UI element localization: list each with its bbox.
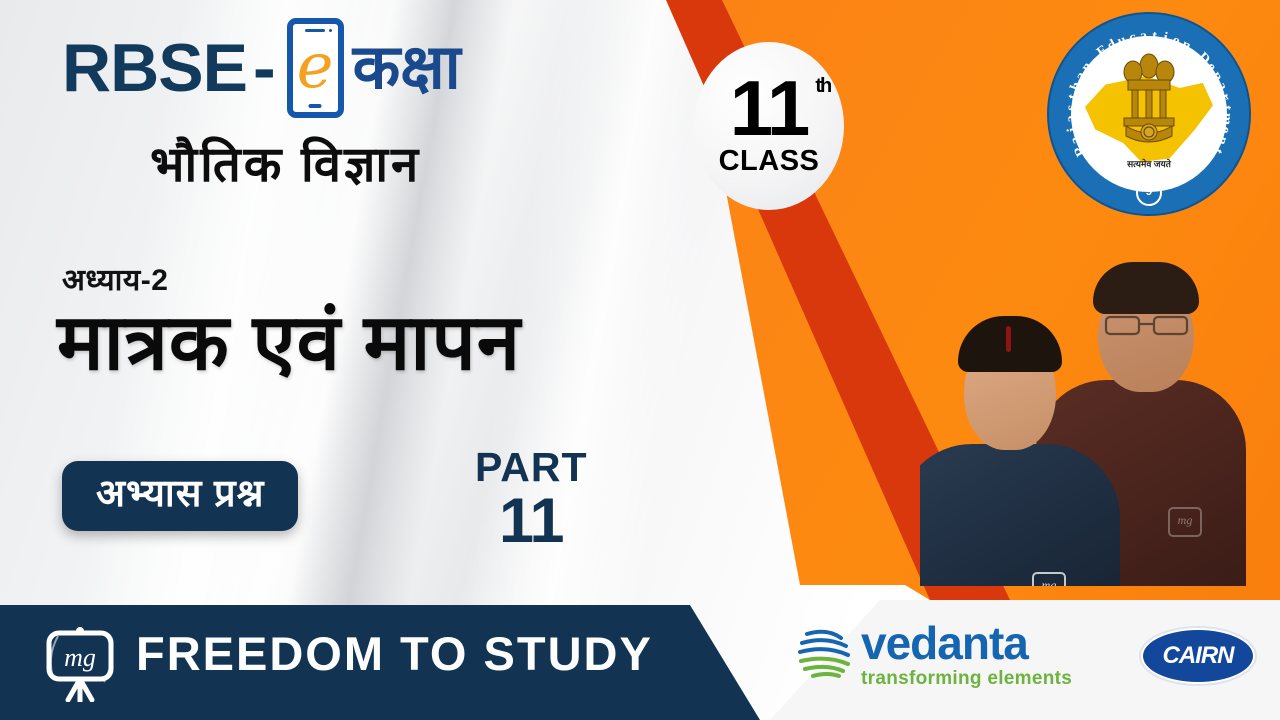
female-sindoor bbox=[1006, 326, 1011, 352]
vedanta-text-block: vedanta transforming elements bbox=[861, 620, 1072, 690]
class-number: 11 bbox=[730, 64, 808, 152]
vedanta-name: vedanta bbox=[861, 620, 1072, 666]
practice-questions-label: अभ्यास प्रश्न bbox=[96, 473, 264, 515]
subject-title: भौतिक विज्ञान bbox=[150, 130, 421, 196]
part-number: 11 bbox=[475, 490, 588, 553]
instructors-photo: mg mg bbox=[920, 250, 1265, 586]
vedanta-globe-icon bbox=[795, 622, 853, 680]
vedanta-tagline: transforming elements bbox=[861, 668, 1072, 690]
class-number-wrap: 11th bbox=[730, 74, 808, 143]
female-shirt bbox=[920, 444, 1120, 586]
part-indicator: PART 11 bbox=[475, 447, 588, 553]
page-title: मात्रक एवं मापन bbox=[57, 300, 521, 384]
male-glasses-icon bbox=[1102, 312, 1192, 338]
seal-motto: सत्यमेव जयते bbox=[1127, 157, 1171, 170]
footer-tagline: FREEDOM TO STUDY bbox=[136, 630, 653, 677]
brand-rbse-text: RBSE bbox=[62, 34, 247, 102]
male-hair bbox=[1093, 262, 1199, 314]
brand-kaksha-text: कक्षा bbox=[353, 37, 461, 99]
rajasthan-education-department-seal: Rajasthan Education Department bbox=[1049, 14, 1249, 214]
ashoka-lion-capital-icon bbox=[1116, 50, 1182, 162]
female-shirt-mg-badge: mg bbox=[1032, 572, 1066, 586]
seal-bottom-mark: 9 bbox=[1136, 180, 1162, 206]
sponsor-cairn: CAIRN bbox=[1141, 628, 1255, 684]
brand-logo: RBSE - e कक्षा bbox=[62, 18, 461, 118]
practice-questions-badge: अभ्यास प्रश्न bbox=[62, 461, 298, 531]
male-shirt-mg-badge: mg bbox=[1168, 507, 1202, 537]
class-badge: 11th CLASS bbox=[694, 42, 844, 210]
part-label: PART bbox=[475, 447, 588, 488]
sponsor-vedanta: vedanta transforming elements bbox=[795, 620, 1072, 690]
brand-e-letter: e bbox=[297, 35, 334, 97]
chapter-label: अध्याय-2 bbox=[62, 258, 168, 299]
smartphone-home-button bbox=[309, 104, 322, 108]
mg-easel-icon: mg bbox=[38, 622, 122, 702]
svg-text:mg: mg bbox=[64, 643, 96, 672]
smartphone-icon: e bbox=[287, 18, 344, 118]
brand-separator: - bbox=[253, 34, 275, 102]
seal-inner-disc: सत्यमेव जयते bbox=[1071, 36, 1227, 192]
class-ordinal-suffix: th bbox=[815, 78, 830, 96]
cairn-name: CAIRN bbox=[1163, 642, 1234, 670]
thumbnail-canvas: RBSE - e कक्षा भौतिक विज्ञान 11th CLASS … bbox=[0, 0, 1280, 720]
